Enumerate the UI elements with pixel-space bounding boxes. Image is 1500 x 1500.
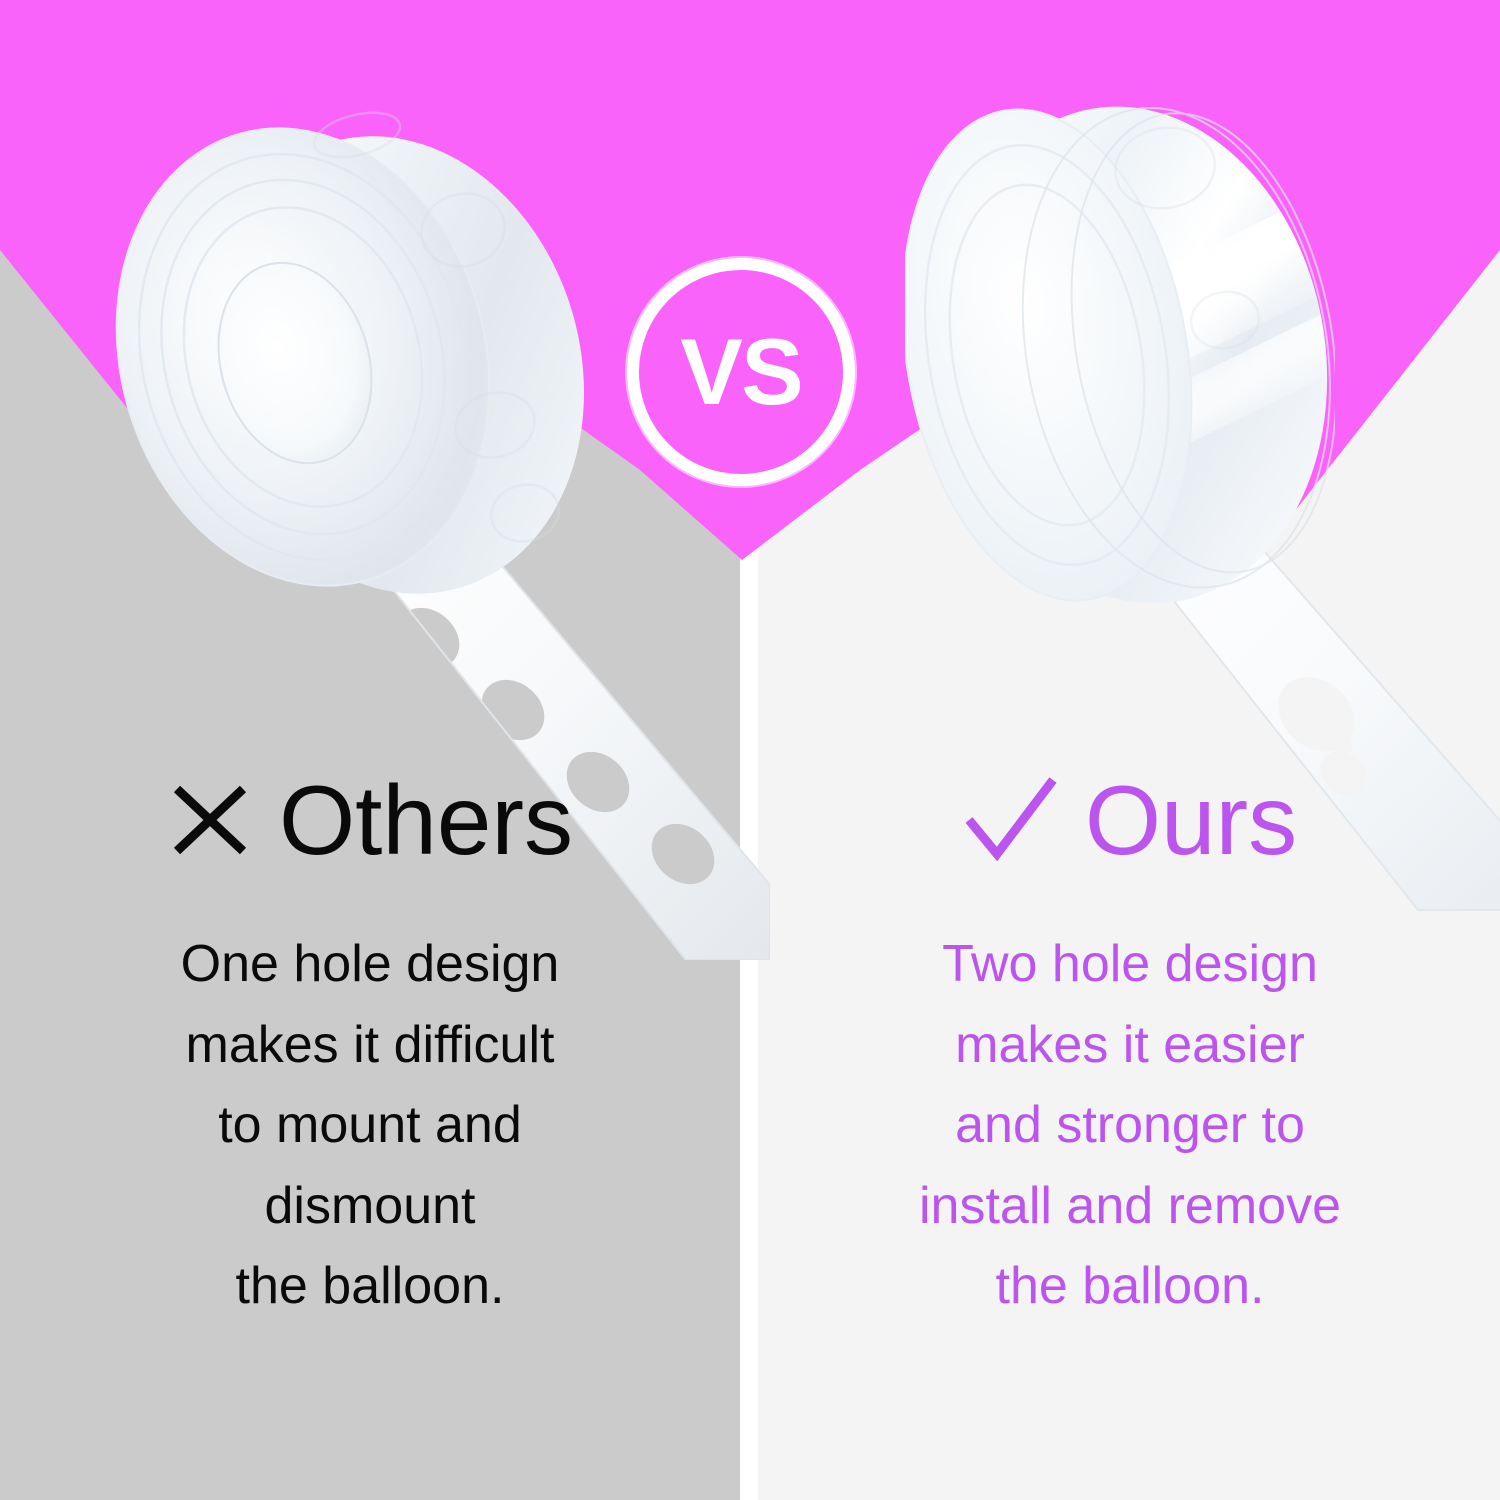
- others-line-3: to mount and: [20, 1085, 720, 1166]
- ours-title: Ours: [1085, 771, 1297, 869]
- ours-line-5: the balloon.: [780, 1246, 1480, 1327]
- vs-label: VS: [680, 325, 801, 419]
- others-title: Others: [279, 771, 573, 869]
- ours-line-3: and stronger to: [780, 1085, 1480, 1166]
- others-description: One hole design makes it difficult to mo…: [20, 924, 720, 1327]
- ours-column: Ours Two hole design makes it easier and…: [780, 760, 1480, 1327]
- others-line-1: One hole design: [20, 924, 720, 1005]
- check-mark-icon: [963, 774, 1059, 866]
- others-headline: Others: [20, 760, 720, 880]
- ours-line-4: install and remove: [780, 1166, 1480, 1247]
- ours-line-1: Two hole design: [780, 924, 1480, 1005]
- cross-mark-icon: [167, 777, 253, 863]
- vs-circle-icon: VS: [627, 258, 855, 486]
- ours-line-2: makes it easier: [780, 1005, 1480, 1086]
- comparison-infographic: VS Others One hole design makes it diffi…: [0, 0, 1500, 1500]
- ours-headline: Ours: [780, 760, 1480, 880]
- center-divider: [740, 0, 758, 1500]
- others-line-5: the balloon.: [20, 1246, 720, 1327]
- others-line-2: makes it difficult: [20, 1005, 720, 1086]
- others-line-4: dismount: [20, 1166, 720, 1247]
- ours-description: Two hole design makes it easier and stro…: [780, 924, 1480, 1327]
- vs-badge: VS: [627, 258, 855, 486]
- others-column: Others One hole design makes it difficul…: [20, 760, 720, 1327]
